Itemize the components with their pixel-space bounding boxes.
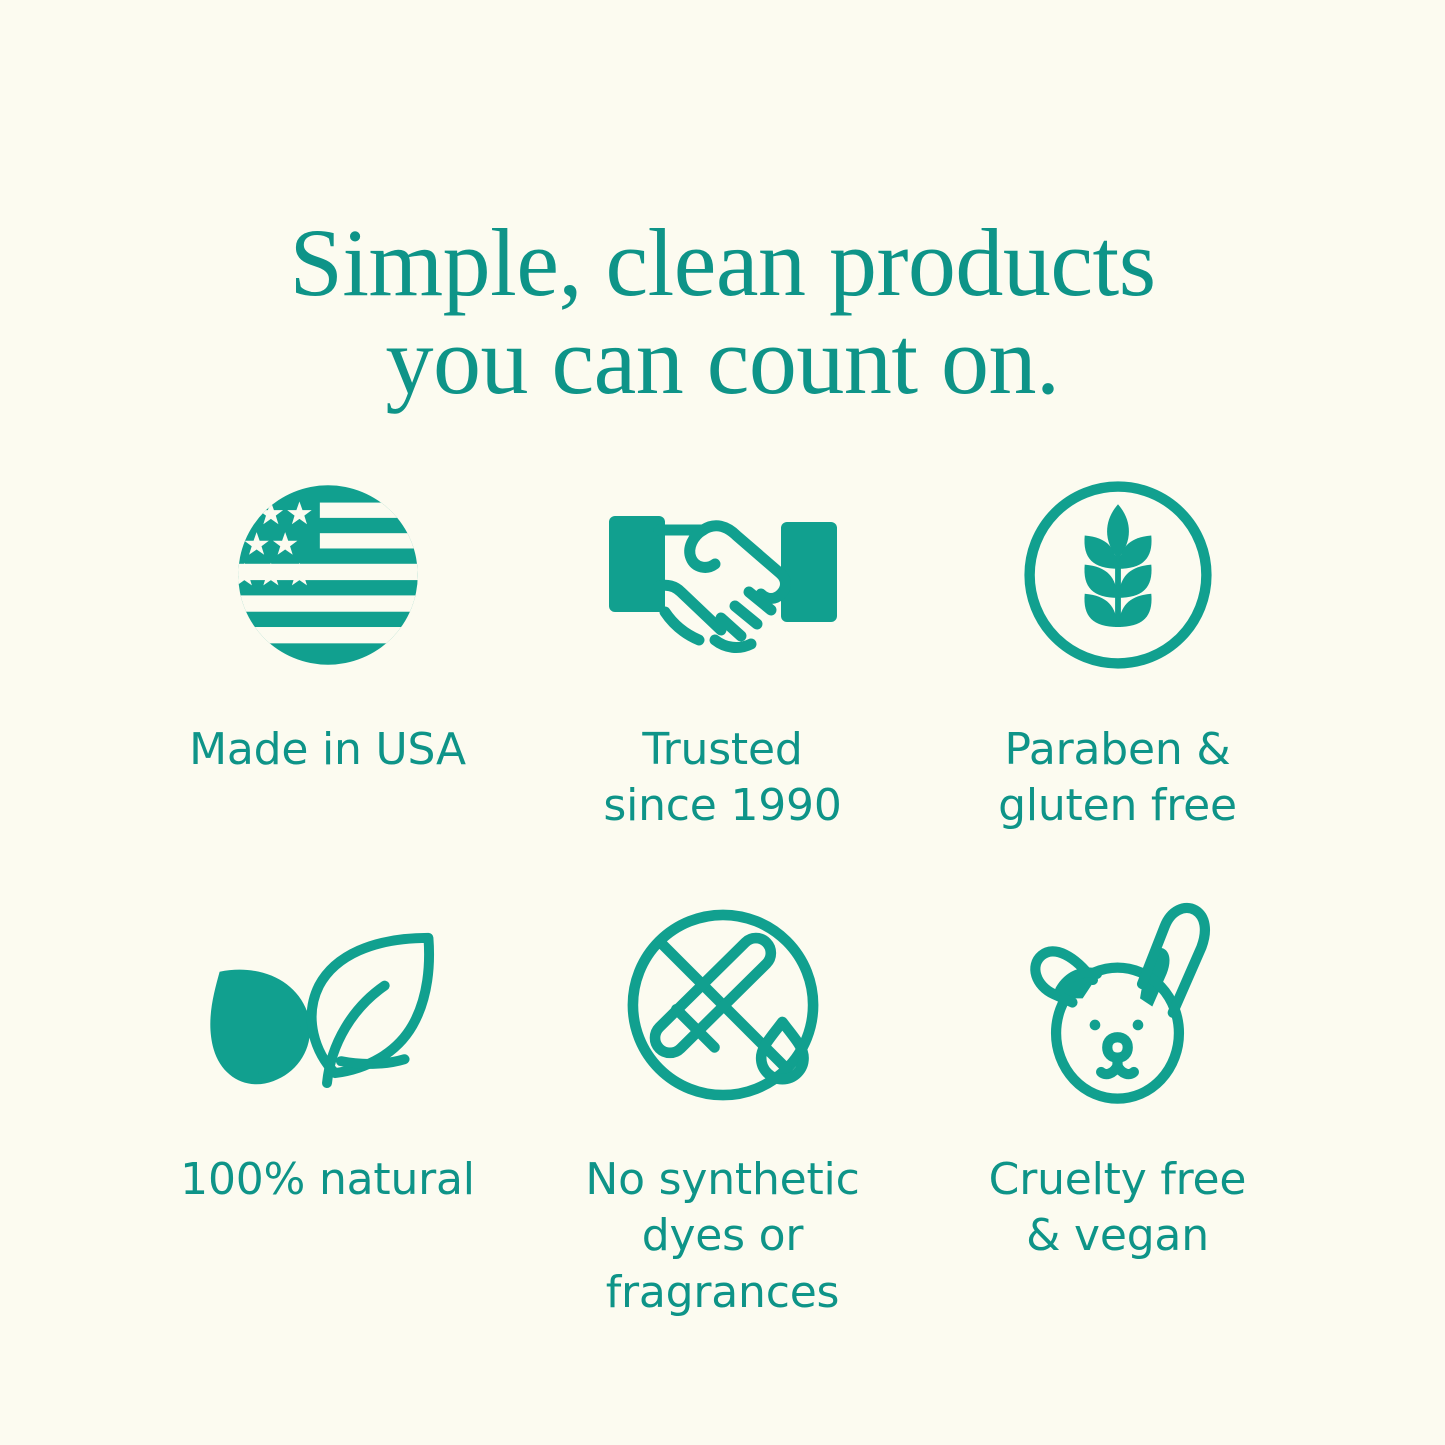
badge-label-line-2: dyes or (585, 1208, 859, 1264)
badge-label-line-2: gluten free (998, 778, 1237, 834)
wheat-stalk-circle-icon (1014, 470, 1222, 680)
handshake-icon (603, 470, 843, 680)
badge-100-natural: 100% natural (130, 900, 525, 1330)
badge-cruelty-free-vegan: Cruelty free & vegan (920, 900, 1315, 1330)
badge-trusted-since: Trusted since 1990 (525, 470, 920, 900)
badge-label-line-3: fragrances (585, 1265, 859, 1321)
usa-flag-circle-icon (226, 470, 430, 680)
badge-no-synthetic-dyes: No synthetic dyes or fragrances (525, 900, 920, 1330)
badge-label: Made in USA (189, 722, 466, 778)
two-leaves-icon (203, 900, 453, 1110)
badge-label: Paraben & gluten free (998, 722, 1237, 835)
no-test-tube-icon (617, 900, 829, 1110)
badge-label: No synthetic dyes or fragrances (585, 1152, 859, 1321)
headline-line-1: Simple, clean products (0, 214, 1445, 312)
badge-label-line-1: Made in USA (189, 722, 466, 778)
bunny-face-icon (1015, 900, 1220, 1110)
badge-paraben-gluten-free: Paraben & gluten free (920, 470, 1315, 900)
badge-label: 100% natural (180, 1152, 475, 1208)
promo-panel: Simple, clean products you can count on. (0, 0, 1445, 1445)
badge-made-in-usa: Made in USA (130, 470, 525, 900)
page-title: Simple, clean products you can count on. (0, 214, 1445, 410)
badge-label-line-1: Paraben & (998, 722, 1237, 778)
badge-label: Trusted since 1990 (603, 722, 841, 835)
badge-label-line-2: since 1990 (603, 778, 841, 834)
badge-label-line-1: Cruelty free (989, 1152, 1247, 1208)
badge-label-line-1: Trusted (603, 722, 841, 778)
badge-label-line-1: 100% natural (180, 1152, 475, 1208)
badge-grid: Made in USA (130, 470, 1315, 1330)
badge-label: Cruelty free & vegan (989, 1152, 1247, 1265)
headline-line-2: you can count on. (0, 312, 1445, 410)
badge-label-line-1: No synthetic (585, 1152, 859, 1208)
badge-label-line-2: & vegan (989, 1208, 1247, 1264)
